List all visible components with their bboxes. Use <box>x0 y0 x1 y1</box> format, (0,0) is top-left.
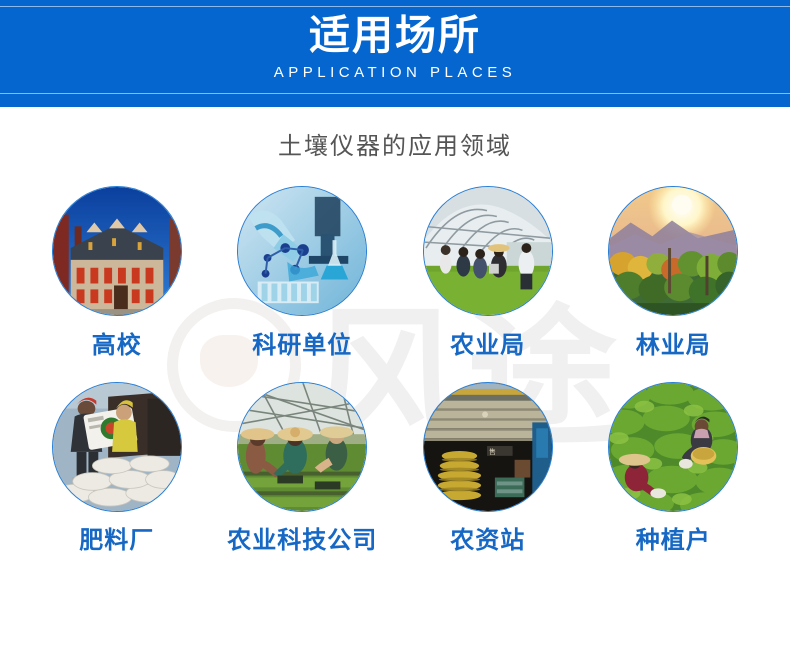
fertilizer-sacks-workers-photo <box>52 382 182 512</box>
agri-supply-shop-photo: 售 <box>423 382 553 512</box>
cell-label: 高校 <box>92 332 142 360</box>
page-title: 适用场所 <box>309 12 481 58</box>
cell-label: 农业科技公司 <box>227 527 377 555</box>
application-places-grid: 高校 <box>0 186 790 555</box>
laboratory-research-photo <box>237 186 367 316</box>
cell-label: 肥料厂 <box>79 527 154 555</box>
cell-label: 农资站 <box>450 527 525 555</box>
autumn-forest-landscape-photo <box>608 186 738 316</box>
grid-cell[interactable]: 肥料厂 <box>24 382 210 555</box>
grid-cell[interactable]: 售 农资站 <box>395 382 581 555</box>
cell-label: 农业局 <box>450 332 525 360</box>
grid-cell[interactable]: 科研单位 <box>210 186 396 360</box>
grid-cell[interactable]: 林业局 <box>581 186 767 360</box>
university-building-photo <box>52 186 182 316</box>
cell-label: 种植户 <box>636 527 711 555</box>
header-rule-top <box>0 6 790 7</box>
cell-label: 科研单位 <box>252 332 352 360</box>
greenhouse-inspection-photo <box>423 186 553 316</box>
grid-cell[interactable]: 种植户 <box>581 382 767 555</box>
grid-cell[interactable]: 农业局 <box>395 186 581 360</box>
grid-cell[interactable]: 高校 <box>24 186 210 360</box>
header-rule-bottom <box>0 93 790 94</box>
cell-label: 林业局 <box>636 332 711 360</box>
grid-cell[interactable]: 农业科技公司 <box>210 382 396 555</box>
farmers-harvesting-field-photo <box>608 382 738 512</box>
greenhouse-seedling-workers-photo <box>237 382 367 512</box>
page-header-banner: 适用场所 APPLICATION PLACES <box>0 0 790 107</box>
section-heading: 土壤仪器的应用领域 <box>0 132 790 162</box>
page-subtitle-english: APPLICATION PLACES <box>274 64 516 82</box>
svg-text:售: 售 <box>489 447 496 456</box>
